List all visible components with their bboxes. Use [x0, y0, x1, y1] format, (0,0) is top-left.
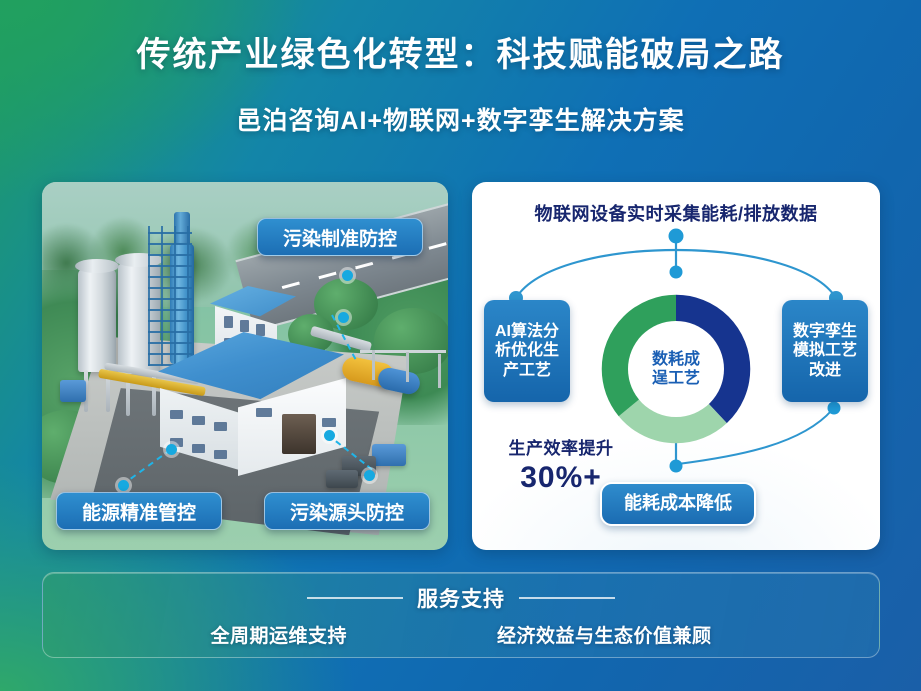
scaffold-structure — [148, 226, 192, 366]
rail-post — [438, 354, 441, 388]
equipment-unit — [60, 380, 86, 402]
rail-post — [372, 350, 375, 380]
equipment-unit — [372, 444, 406, 466]
footer-title-group: 服务支持 — [43, 583, 879, 613]
kpi-block: 生产效率提升 30%+ — [494, 434, 628, 495]
window — [256, 408, 272, 417]
chip-digital-twin[interactable]: 数字孪生模拟工艺改进 — [782, 300, 868, 402]
tag-label: 污染源头防控 — [290, 498, 404, 525]
chip-label: 数字孪生模拟工艺改进 — [786, 322, 864, 381]
service-support-bar: 服务支持 全周期运维支持 经济效益与生态价值兼顾 — [42, 572, 880, 658]
tag-energy-management[interactable]: 能源精准管控 — [56, 492, 222, 530]
window — [240, 320, 249, 332]
poster-root: 传统产业绿色化转型：科技赋能破局之路 邑泊咨询AI+物联网+数字孪生解决方案 — [0, 0, 921, 691]
node-dot-right-low — [828, 402, 841, 415]
chip-label: 能耗成本降低 — [624, 493, 732, 515]
kpi-label: 生产效率提升 — [494, 434, 628, 459]
node-dot-bottom — [670, 460, 683, 473]
hotspot-dot — [324, 430, 335, 441]
page-title: 传统产业绿色化转型：科技赋能破局之路 — [0, 34, 921, 77]
window — [322, 418, 336, 427]
rail-post — [406, 352, 409, 382]
warehouse-door — [282, 414, 316, 454]
hotspot-dot — [342, 270, 353, 281]
header: 传统产业绿色化转型：科技赋能破局之路 邑泊咨询AI+物联网+数字孪生解决方案 — [0, 34, 921, 137]
window — [214, 422, 227, 431]
hotspot-dot — [338, 312, 349, 323]
footer-title: 服务支持 — [417, 583, 505, 613]
footer-item-lifecycle: 全周期运维支持 — [210, 621, 347, 648]
hotspot-dot — [118, 480, 129, 491]
tag-pollution-source[interactable]: 污染源头防控 — [264, 492, 430, 530]
divider-right — [519, 597, 615, 599]
node-dot-top — [669, 229, 684, 244]
tag-label: 污染制准防控 — [283, 224, 397, 251]
chip-ai-optimization[interactable]: AI算法分析优化生产工艺 — [484, 300, 570, 402]
hotspot-dot — [364, 470, 375, 481]
chip-label: AI算法分析优化生产工艺 — [488, 322, 566, 381]
footer-item-value: 经济效益与生态价值兼顾 — [497, 621, 712, 648]
window — [192, 444, 205, 453]
page-subtitle: 邑泊咨询AI+物联网+数字孪生解决方案 — [0, 101, 921, 137]
energy-donut-chart: 数耗成 逞工艺 — [597, 290, 755, 448]
donut-center-line1: 数耗成 — [652, 350, 700, 369]
window — [192, 416, 205, 425]
window — [256, 324, 265, 336]
window — [214, 450, 227, 459]
donut-center-label: 数耗成 逞工艺 — [628, 321, 724, 417]
diagram-card: 物联网设备实时采集能耗/排放数据 — [472, 182, 880, 550]
window — [224, 316, 233, 328]
industrial-plant-illustration: 污染制准防控 能源精准管控 污染源头防控 — [42, 182, 448, 550]
hotspot-dot — [166, 444, 177, 455]
divider-left — [307, 597, 403, 599]
node-dot-mid — [670, 266, 683, 279]
kpi-value: 30%+ — [494, 461, 628, 495]
content-row: 污染制准防控 能源精准管控 污染源头防控 物联网设备实时采集能耗/排放数据 — [42, 182, 880, 550]
equipment-unit — [326, 470, 358, 488]
tag-pollution-control[interactable]: 污染制准防控 — [257, 218, 423, 256]
window — [170, 410, 183, 419]
donut-center-line2: 逞工艺 — [652, 369, 700, 388]
tag-label: 能源精准管控 — [82, 498, 196, 525]
silo-tank — [78, 268, 116, 372]
footer-items: 全周期运维支持 经济效益与生态价值兼顾 — [43, 621, 879, 648]
